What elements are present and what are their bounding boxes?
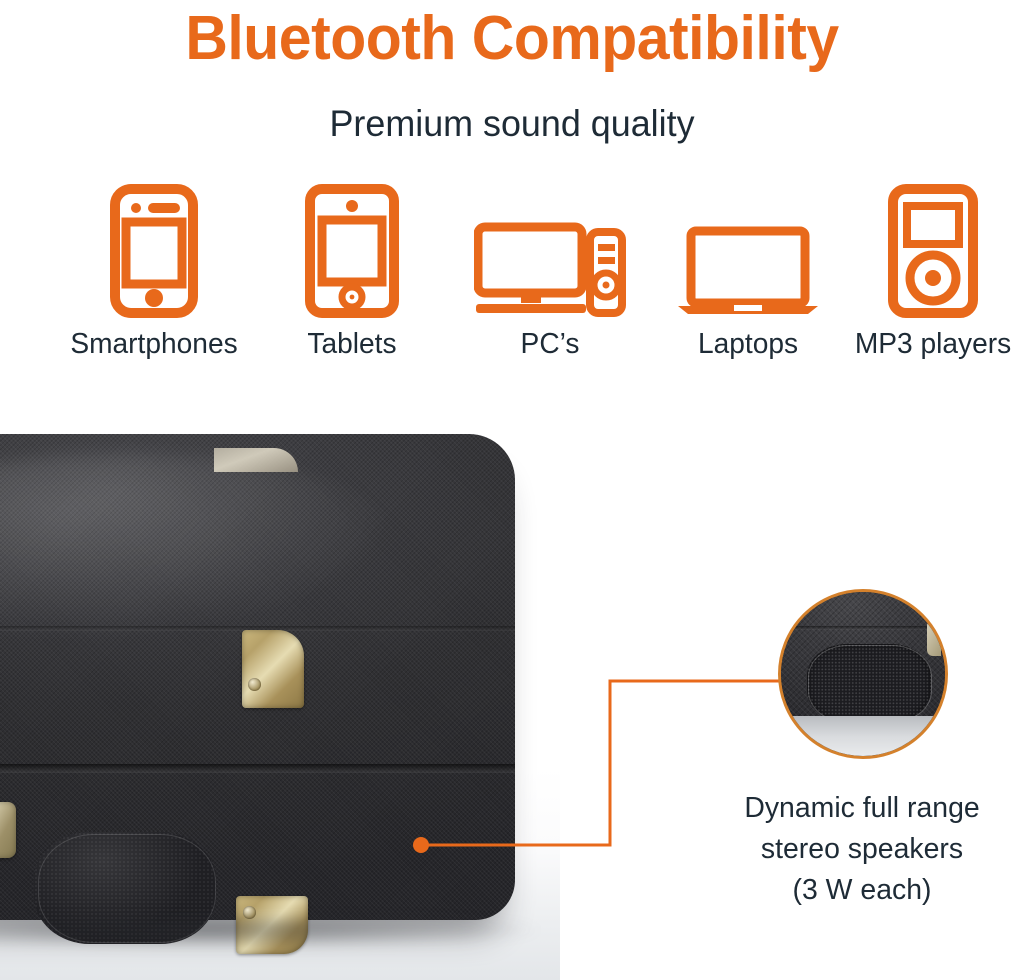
corner-screw — [248, 678, 261, 691]
device-item-smartphones: Smartphones — [30, 178, 278, 373]
device-label-smartphones: Smartphones — [34, 326, 275, 362]
smartphone-icon — [30, 178, 278, 318]
callout-line-3: (3 W each) — [703, 870, 1021, 911]
brass-corner-top-right-tip — [214, 448, 298, 472]
tablet-icon — [278, 178, 426, 318]
desktop-pc-icon — [436, 178, 664, 318]
device-label-tablets: Tablets — [280, 326, 424, 362]
brass-hinge-plate — [0, 802, 16, 858]
case-lid-seam — [0, 764, 515, 773]
page-subtitle: Premium sound quality — [15, 101, 1008, 147]
brass-corner-mid-right — [242, 630, 304, 708]
device-label-laptops: Laptops — [663, 326, 834, 362]
laptop-icon — [660, 178, 836, 318]
callout-line-1: Dynamic full range — [703, 788, 1021, 829]
page-title: Bluetooth Compatibility — [26, 2, 999, 76]
callout-caption: Dynamic full range stereo speakers (3 W … — [700, 788, 1024, 911]
device-item-laptops: Laptops — [660, 178, 836, 373]
suitcase-body — [0, 434, 515, 920]
device-label-pcs: PC’s — [439, 326, 660, 362]
closeup-brass-corner — [927, 620, 941, 656]
compatible-devices-row: Smartphones Tablets — [0, 178, 1024, 373]
product-photo — [0, 420, 560, 980]
closeup-seam — [781, 626, 945, 630]
product-feature-infographic: Bluetooth Compatibility Premium sound qu… — [0, 0, 1024, 980]
closeup-grille-outline — [808, 645, 932, 723]
closeup-surface — [778, 716, 948, 759]
device-item-mp3-players: MP3 players — [842, 178, 1024, 373]
device-item-tablets: Tablets — [278, 178, 426, 373]
device-label-mp3-players: MP3 players — [845, 326, 1022, 362]
speaker-grille-closeup — [778, 589, 948, 759]
mp3-player-icon — [842, 178, 1024, 318]
callout-line-2: stereo speakers — [703, 829, 1021, 870]
product-drop-shadow — [0, 918, 540, 948]
device-item-pcs: PC’s — [436, 178, 664, 373]
